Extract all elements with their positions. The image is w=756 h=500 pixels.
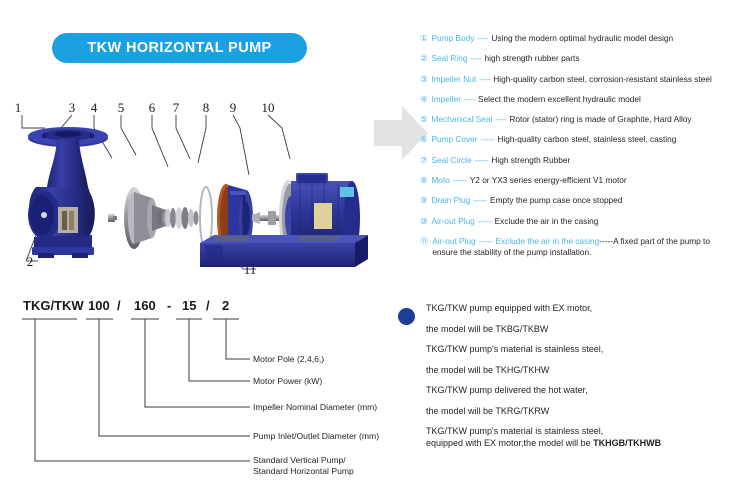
variant-final-model: TKHGB/TKHWB [593, 438, 661, 448]
feature-item: ③ Impeller Nut ---- High-quality carbon … [420, 74, 756, 85]
feature-dash: ---- [495, 114, 506, 125]
callout-8: 8 [203, 100, 210, 115]
feature-item: ⑤ Mechanical Seal ---- Rotor (stator) ri… [420, 114, 756, 125]
callout-4: 4 [91, 100, 98, 115]
feature-description: A fixed part of the pump to [613, 236, 710, 246]
variant-final-line-2: equipped with EX motor,the model will be… [426, 438, 756, 448]
variant-line: TKG/TKW pump equipped with EX motor, [426, 303, 756, 313]
callout-6: 6 [149, 100, 156, 115]
feature-dash: ---- [464, 94, 475, 105]
feature-part-name: Impeller [431, 94, 461, 105]
feature-part-name: Mechanical Seal [431, 114, 492, 125]
feature-item: ⑨ Drain Plug ----- Empty the pump case o… [420, 195, 756, 206]
code-inlet: 100 [88, 298, 110, 313]
feature-number: ④ [420, 94, 427, 105]
code-pole: 2 [222, 298, 229, 313]
model-code-breakdown: TKG/TKW 100 / 160 - 15 / 2 [0, 293, 380, 500]
feature-item: ⑦ Seal Circle ----- High strength Rubber [420, 155, 756, 166]
code-slash-1: / [117, 298, 121, 313]
callout-5: 5 [118, 100, 125, 115]
bullet-dot-icon [398, 308, 415, 325]
product-datasheet-page: TKW HORIZONTAL PUMP [0, 0, 756, 500]
feature-description: Exclude the air in the casing [495, 216, 599, 227]
variant-final-text: equipped with EX motor,the model will be [426, 438, 593, 448]
feature-part-name: Pump Cover [431, 134, 477, 145]
callout-2: 2 [27, 254, 34, 269]
feature-description: Select the modern excellent hydraulic mo… [478, 94, 641, 105]
feature-item-last: ⑪ Air-out Plug-----Exclude the air in th… [420, 236, 756, 258]
label-standard-pump-line2: Standard Horizontal Pump [253, 466, 354, 476]
feature-part-name: Seal Circle [431, 155, 471, 166]
feature-description: Y2 or YX3 series energy-efficient V1 mot… [470, 175, 627, 186]
label-motor-power: Motor Power (kW) [253, 376, 322, 386]
feature-number: ① [420, 33, 427, 44]
feature-dash: ---- [477, 33, 488, 44]
callout-10: 10 [262, 100, 275, 115]
label-impeller-diameter: Impeller Nominal Diameter (mm) [253, 402, 377, 412]
callout-1: 1 [15, 100, 22, 115]
page-title: TKW HORIZONTAL PUMP [87, 40, 271, 56]
feature-part-name: Moto [431, 175, 449, 186]
feature-list: ① Pump Body ---- Using the modern optima… [420, 33, 756, 267]
feature-number: ⑤ [420, 114, 427, 125]
label-motor-pole: Motor Pole (2,4,6,) [253, 354, 324, 364]
feature-item: ① Pump Body ---- Using the modern optima… [420, 33, 756, 44]
feature-number: ⑦ [420, 155, 427, 166]
feature-number: ⑨ [420, 195, 427, 206]
feature-dash: ---- [470, 53, 481, 64]
feature-part-name: Air-out Plug [432, 236, 475, 246]
feature-item: ⑥ Pump Cover ----- High-quality carbon s… [420, 134, 756, 145]
variant-final-line-1: TKG/TKW pump's material is stainless ste… [426, 426, 756, 436]
feature-part-name: Pump Body [431, 33, 474, 44]
label-inlet-outlet-diameter: Pump Inlet/Outlet Diameter (mm) [253, 431, 379, 441]
feature-item: ② Seal Ring ---- high strength rubber pa… [420, 53, 756, 64]
variant-line: the model will be TKRG/TKRW [426, 406, 756, 416]
feature-part-name: Impeller Nut [431, 74, 476, 85]
feature-item: ④ Impeller ---- Select the modern excell… [420, 94, 756, 105]
feature-dash: ----- [481, 134, 495, 145]
base-plate-part [200, 235, 368, 267]
variant-line: TKG/TKW pump delivered the hot water, [426, 385, 756, 395]
impeller-nut-part [108, 214, 117, 222]
feature-dash: ----- [453, 175, 467, 186]
feature-description: Empty the pump case once stopped [490, 195, 622, 206]
feature-number: ⑥ [420, 134, 427, 145]
feature-description-line2: ensure the stability of the pump install… [432, 247, 710, 258]
feature-dash-2: ----- [599, 236, 613, 246]
feature-item: ⑧ Moto ----- Y2 or YX3 series energy-eff… [420, 175, 756, 186]
code-prefix: TKG/TKW [23, 298, 84, 313]
feature-part-name: Air-out Plug [431, 216, 474, 227]
feature-description: High-quality carbon steel, corrosion-res… [493, 74, 712, 85]
feature-part-name: Drain Plug [431, 195, 470, 206]
feature-dash: ----- [479, 236, 493, 246]
callout-3: 3 [69, 100, 76, 115]
code-slash-2: / [206, 298, 210, 313]
variant-line: the model will be TKBG/TKBW [426, 324, 756, 334]
feature-number: ② [420, 53, 427, 64]
model-variant-notes: TKG/TKW pump equipped with EX motor, the… [398, 303, 756, 459]
feature-number: ③ [420, 74, 427, 85]
feature-description-blue: Exclude the air in the casing [496, 236, 600, 246]
impeller-part [124, 187, 170, 249]
callout-9: 9 [230, 100, 237, 115]
feature-number: ⑧ [420, 175, 427, 186]
exploded-pump-diagram: 1 2 3 4 5 6 7 8 9 10 11 [0, 95, 375, 290]
feature-item: ⑩ Air-out Plug ----- Exclude the air in … [420, 216, 756, 227]
feature-description: high strength rubber parts [485, 53, 580, 64]
code-impeller: 160 [134, 298, 156, 313]
variant-line: the model will be TKHG/TKHW [426, 365, 756, 375]
callout-7: 7 [173, 100, 180, 115]
feature-dash: ----- [478, 216, 492, 227]
feature-description: Using the modern optimal hydraulic model… [491, 33, 673, 44]
feature-description: Rotor (stator) ring is made of Graphite,… [509, 114, 691, 125]
code-dash: - [167, 298, 171, 313]
feature-number: ⑩ [420, 216, 427, 227]
feature-description: High strength Rubber [491, 155, 570, 166]
feature-dash: ---- [479, 74, 490, 85]
label-standard-pump-line1: Standard Vertical Pump/ [253, 455, 346, 465]
feature-dash: ----- [475, 155, 489, 166]
feature-dash: ----- [473, 195, 487, 206]
feature-description: High-quality carbon steel, stainless ste… [497, 134, 676, 145]
code-power: 15 [182, 298, 196, 313]
variant-line: TKG/TKW pump's material is stainless ste… [426, 344, 756, 354]
feature-part-name: Seal Ring [431, 53, 467, 64]
feature-number: ⑪ [420, 236, 428, 247]
pump-body-part [28, 127, 108, 258]
page-title-banner: TKW HORIZONTAL PUMP [52, 33, 307, 63]
